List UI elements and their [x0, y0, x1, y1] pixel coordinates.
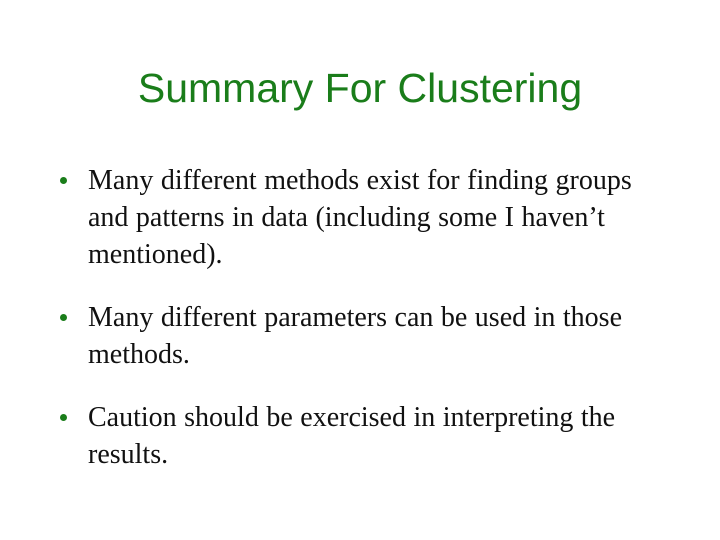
bullet-point-icon	[60, 314, 67, 321]
list-item: Many different methods exist for finding…	[56, 162, 668, 273]
list-item: Many different parameters can be used in…	[56, 299, 668, 373]
list-item-text: Caution should be exercised in interpret…	[88, 399, 668, 473]
bullet-point-icon	[60, 414, 67, 421]
list-item: Caution should be exercised in interpret…	[56, 399, 668, 473]
list-item-text: Many different parameters can be used in…	[88, 299, 668, 373]
bullet-list: Many different methods exist for finding…	[56, 162, 668, 473]
page-title: Summary For Clustering	[0, 64, 720, 112]
bullet-point-icon	[60, 177, 67, 184]
presentation-slide: Summary For Clustering Many different me…	[0, 0, 720, 540]
list-item-text: Many different methods exist for finding…	[88, 162, 668, 273]
